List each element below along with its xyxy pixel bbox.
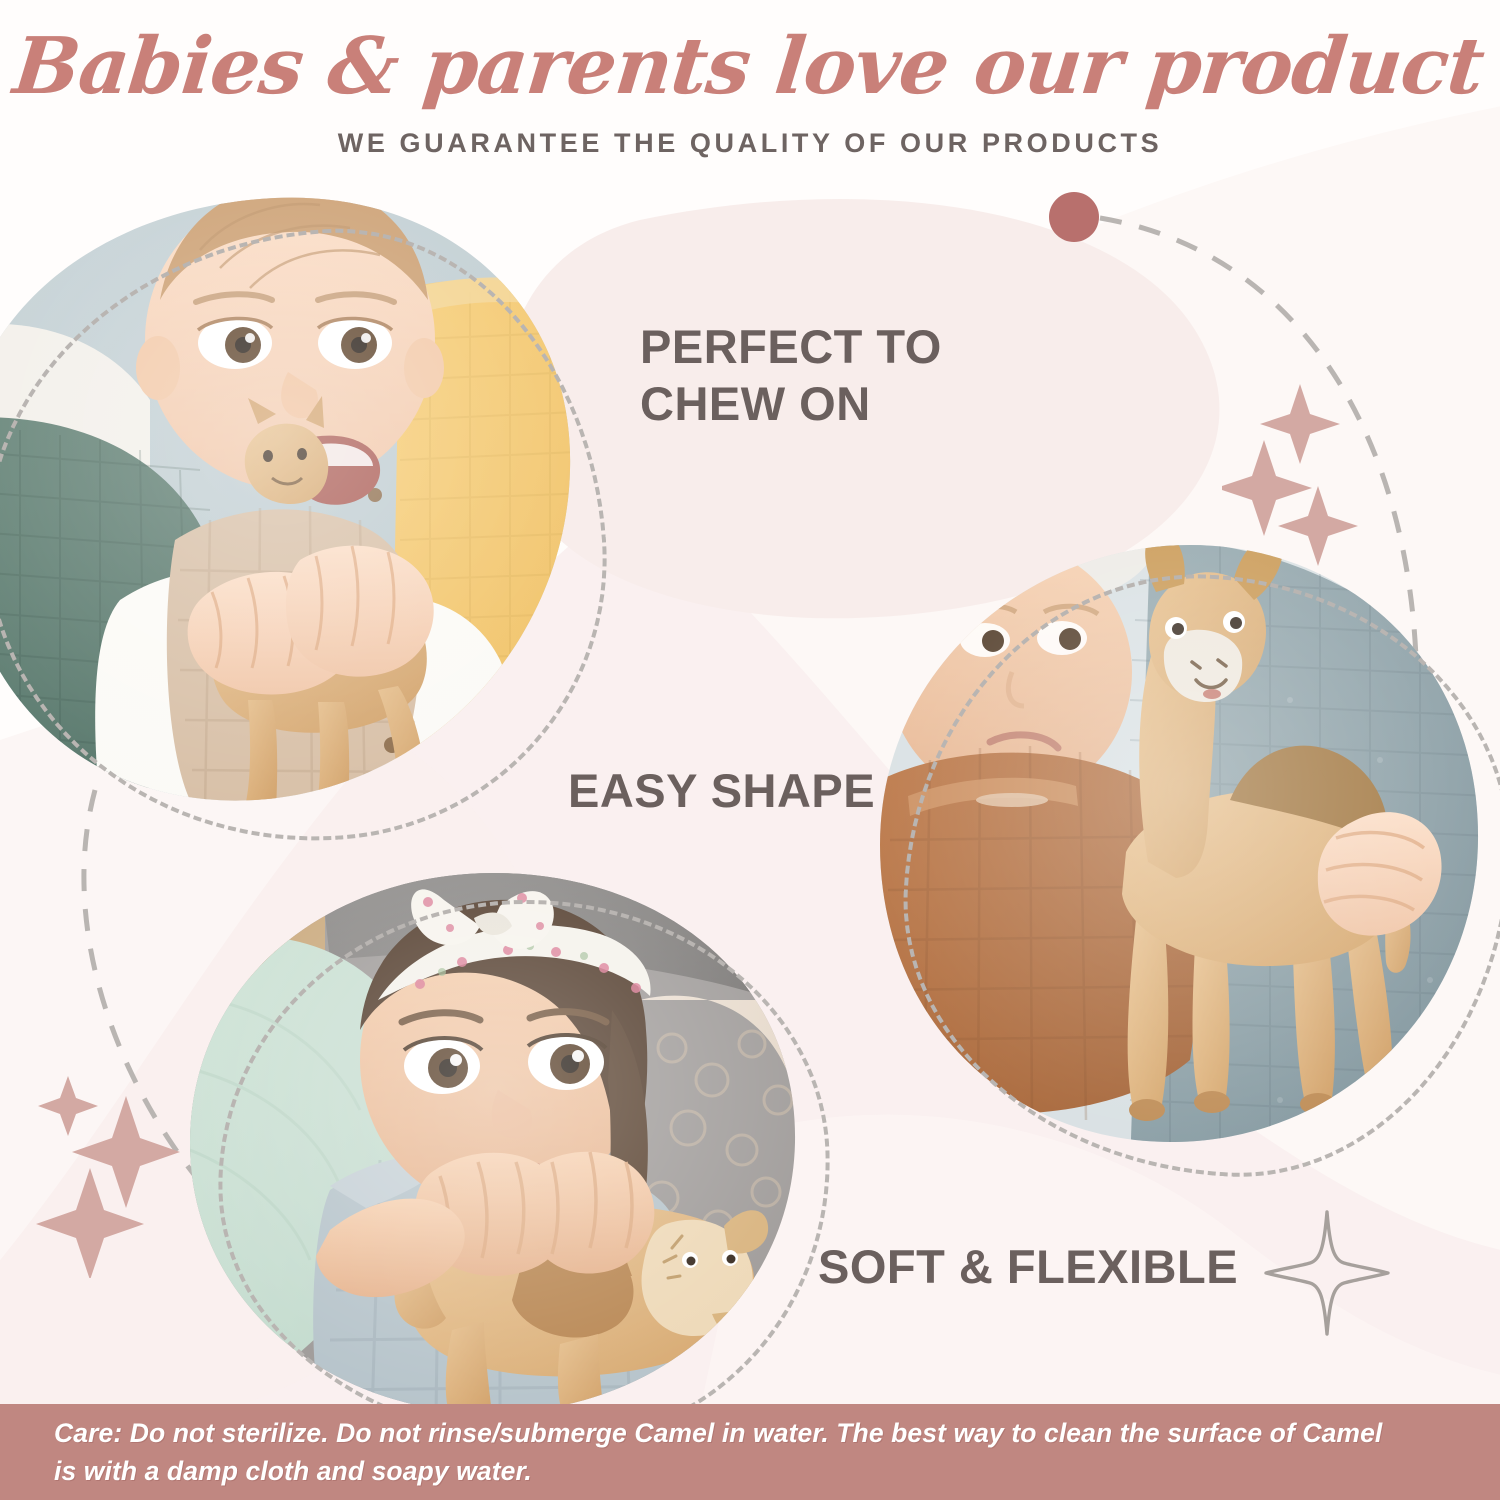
outlined-star-icon — [1262, 1208, 1392, 1338]
care-instructions-banner: Care: Do not sterilize. Do not rinse/sub… — [0, 1404, 1500, 1500]
care-instructions-text: Care: Do not sterilize. Do not rinse/sub… — [0, 1414, 1460, 1491]
page-subtitle: WE GUARANTEE THE QUALITY OF OUR PRODUCTS — [0, 128, 1500, 159]
feature-label-shape: EASY SHAPE — [568, 762, 875, 819]
page-title: Babies & parents love our product — [0, 0, 1500, 106]
infographic-canvas: Babies & parents love our product WE GUA… — [0, 0, 1500, 1500]
sparkle-cluster-right — [1222, 378, 1422, 578]
sparkle-cluster-left — [28, 1068, 238, 1278]
feature-label-chew: PERFECT TO CHEW ON — [640, 318, 970, 433]
feature-label-soft: SOFT & FLEXIBLE — [818, 1238, 1238, 1295]
header: Babies & parents love our product WE GUA… — [0, 0, 1500, 159]
